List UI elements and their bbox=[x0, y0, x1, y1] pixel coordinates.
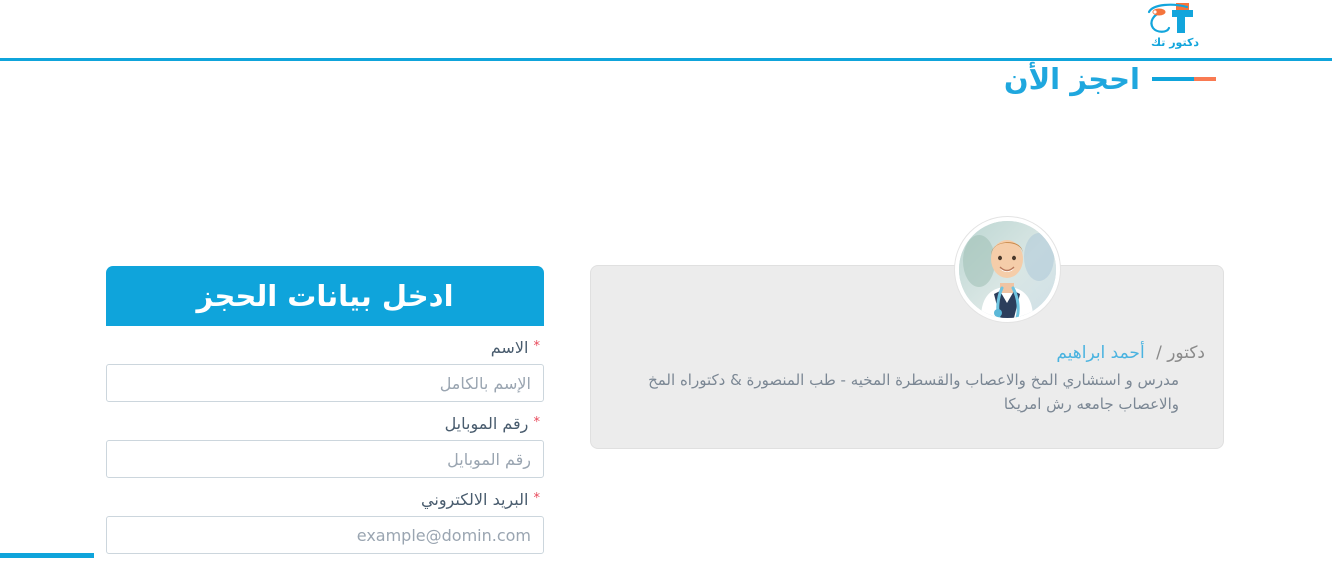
doctor-description: مدرس و استشاري المخ والاعصاب والقسطرة ال… bbox=[609, 368, 1179, 416]
mobile-input[interactable] bbox=[106, 440, 544, 478]
field-group-email: * البريد الالكتروني bbox=[106, 487, 544, 554]
email-input[interactable] bbox=[106, 516, 544, 554]
field-group-name: * الاسم bbox=[106, 335, 544, 402]
form-body: * الاسم * رقم الموبايل * البريد الالكترو… bbox=[106, 326, 544, 567]
mobile-label-text: رقم الموبايل bbox=[445, 414, 529, 433]
form-header: ادخل بيانات الحجز bbox=[106, 266, 544, 326]
name-label-text: الاسم bbox=[491, 338, 529, 357]
field-group-mobile: * رقم الموبايل bbox=[106, 411, 544, 478]
bottom-accent-bar bbox=[0, 553, 94, 558]
section-title-block: احجز الأن bbox=[1004, 61, 1224, 97]
email-label-text: البريد الالكتروني bbox=[421, 490, 528, 509]
site-logo[interactable]: دكتور تك bbox=[1130, 2, 1220, 54]
doctor-name-line: دكتور / أحمد ابراهيم bbox=[609, 340, 1205, 366]
site-header: دكتور تك bbox=[0, 0, 1332, 61]
page-content: احجز الأن bbox=[0, 61, 1332, 564]
mobile-field-label: * رقم الموبايل bbox=[106, 411, 544, 436]
doctor-details: دكتور / أحمد ابراهيم مدرس و استشاري المخ… bbox=[609, 340, 1205, 416]
title-accent-orange-icon bbox=[1194, 77, 1216, 81]
required-marker: * bbox=[534, 491, 541, 506]
email-field-label: * البريد الالكتروني bbox=[106, 487, 544, 512]
booking-form-panel: ادخل بيانات الحجز * الاسم * رقم الموبايل bbox=[106, 266, 544, 567]
title-accent-blue-icon bbox=[1152, 77, 1194, 81]
doctor-prefix: دكتور / bbox=[1156, 343, 1205, 363]
page-title: احجز الأن bbox=[1004, 61, 1140, 97]
doctor-name: أحمد ابراهيم bbox=[1056, 343, 1144, 363]
required-marker: * bbox=[534, 339, 541, 354]
doctor-portrait-photo-icon bbox=[959, 221, 1056, 318]
doctor-avatar bbox=[955, 217, 1060, 322]
name-input[interactable] bbox=[106, 364, 544, 402]
medical-cross-swoosh-logo-icon bbox=[1130, 2, 1220, 40]
form-heading: ادخل بيانات الحجز bbox=[197, 278, 454, 314]
name-field-label: * الاسم bbox=[106, 335, 544, 360]
doctor-info-card: دكتور / أحمد ابراهيم مدرس و استشاري المخ… bbox=[590, 265, 1224, 449]
required-marker: * bbox=[534, 415, 541, 430]
